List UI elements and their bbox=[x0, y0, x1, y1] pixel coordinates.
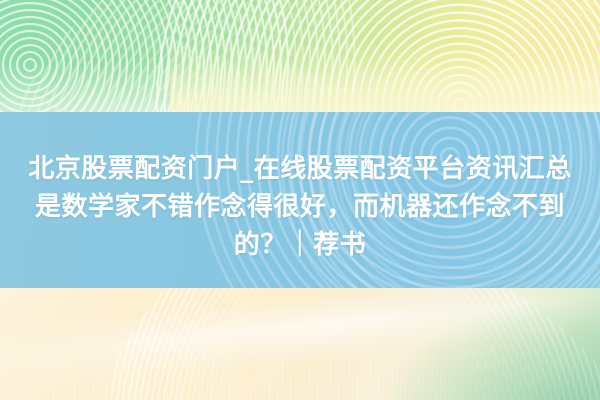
headline-band: 北京股票配资门户_在线股票配资平台资讯汇总是数学家不错作念得很好，而机器还作念不… bbox=[0, 112, 600, 288]
banner-image: 北京股票配资门户_在线股票配资平台资讯汇总是数学家不错作念得很好，而机器还作念不… bbox=[0, 0, 600, 400]
bottom-gradient-band bbox=[0, 288, 600, 400]
top-gradient-band bbox=[0, 0, 600, 112]
top-band-wash bbox=[170, 42, 600, 112]
bottom-right-green-tint bbox=[380, 300, 600, 400]
banner-headline: 北京股票配资门户_在线股票配资平台资讯汇总是数学家不错作念得很好，而机器还作念不… bbox=[0, 112, 600, 288]
